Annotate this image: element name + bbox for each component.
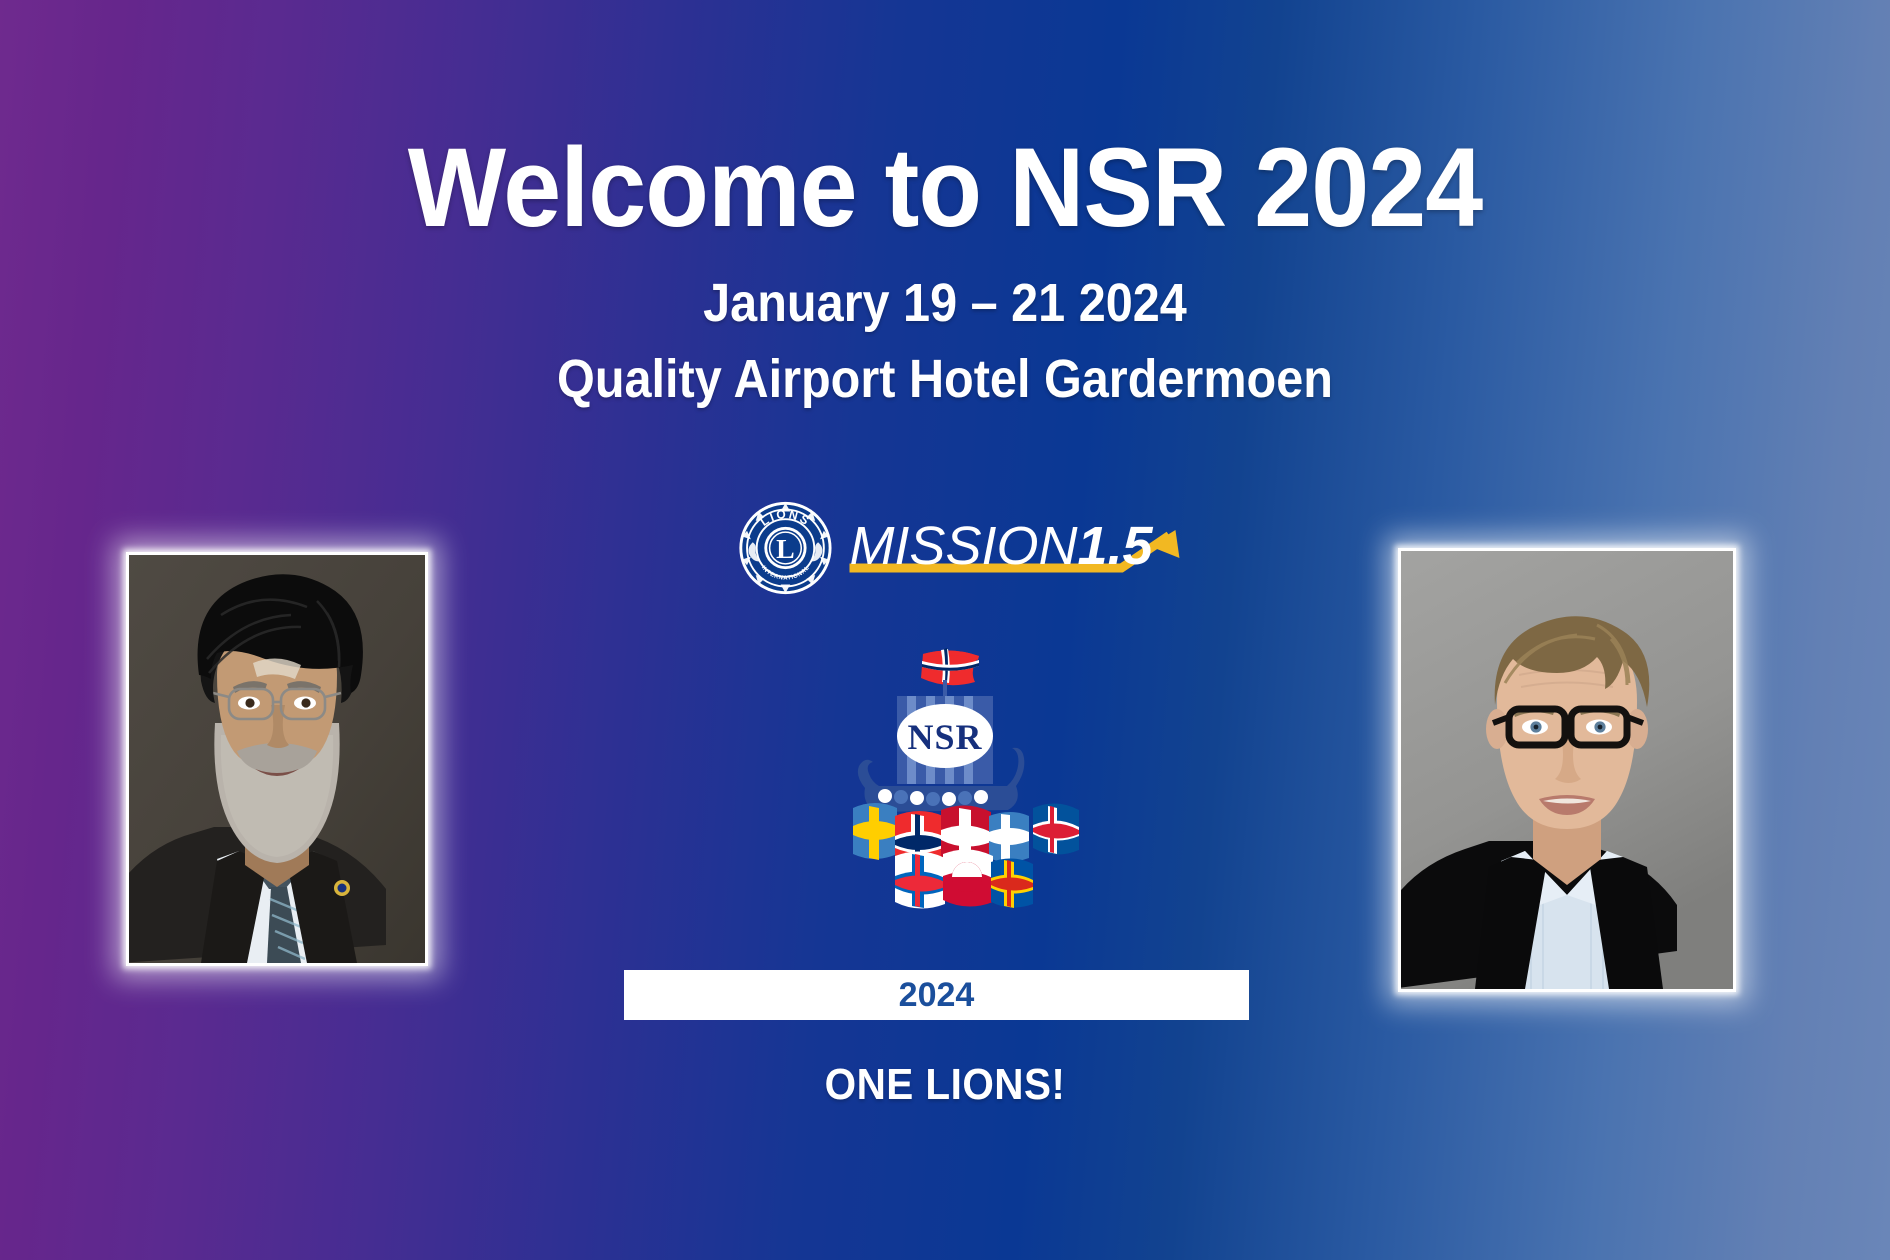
- portrait-right-speaker: [1398, 548, 1736, 992]
- tagline: ONE LIONS!: [76, 1060, 1815, 1110]
- nsr-sail-badge: NSR: [897, 704, 993, 768]
- sweden-flag-icon: [853, 803, 897, 860]
- mission-wordmark: MISSION1.5: [849, 500, 1152, 596]
- heading-block: Welcome to NSR 2024 January 19 – 21 2024…: [0, 132, 1890, 406]
- slide-root: Welcome to NSR 2024 January 19 – 21 2024…: [0, 0, 1890, 1260]
- event-date: January 19 – 21 2024: [95, 276, 1796, 330]
- mission-word-bold: 1.5: [1077, 516, 1152, 576]
- greenland-flag-icon: [943, 849, 993, 906]
- portrait-left-speaker: [126, 552, 428, 966]
- page-title: Welcome to NSR 2024: [66, 132, 1824, 244]
- nsr-sail-text: NSR: [907, 717, 982, 757]
- nsr-viking-ship-emblem: NSR: [745, 648, 1145, 978]
- finland-flag-icon: [989, 812, 1029, 863]
- mast-norway-flag-icon: [921, 648, 979, 685]
- emblem-year: 2024: [624, 970, 1249, 1020]
- lions-emblem-center-letter: L: [776, 534, 795, 565]
- faroe-islands-flag-icon: [895, 851, 945, 908]
- lions-mission-logo: LIONS INTERNATIONAL L MISSI: [737, 500, 1152, 596]
- iceland-flag-icon: [1033, 803, 1079, 854]
- mission-word-thin: MISSION: [849, 516, 1077, 576]
- event-venue: Quality Airport Hotel Gardermoen: [95, 352, 1796, 406]
- aland-flag-icon: [991, 858, 1033, 908]
- lions-international-emblem-icon: LIONS INTERNATIONAL L: [737, 500, 833, 596]
